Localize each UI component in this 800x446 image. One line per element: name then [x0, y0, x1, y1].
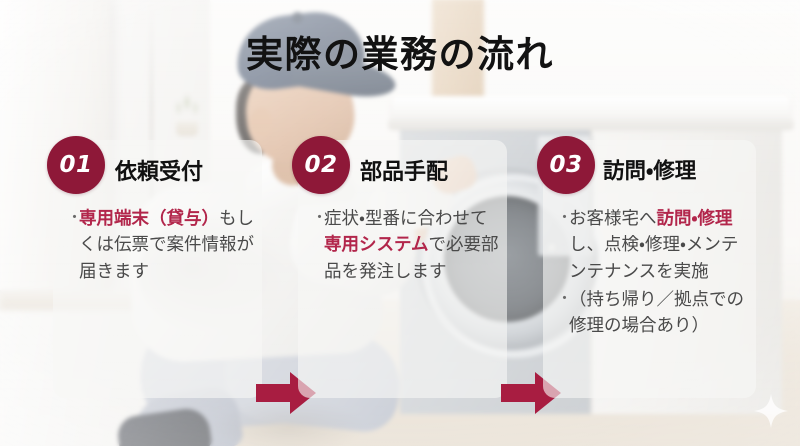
step-body-02: ・症状・型番に合わせて専用システムで必要部品を発注します	[312, 206, 502, 287]
bullet-marker: ・	[557, 206, 569, 229]
plain-text: し、点検・修理・メンテンテナンスを実施	[569, 235, 738, 281]
step-body-01: ・専用端末（貸与）もしくは伝票で案件情報が届きます	[67, 206, 257, 287]
bullet-marker: ・	[312, 206, 324, 229]
process-flow: 01 依頼受付 ・専用端末（貸与）もしくは伝票で案件情報が届きます 02 部品手…	[0, 140, 800, 402]
step-title-01: 依頼受付	[115, 154, 203, 186]
page-title: 実際の業務の流れ	[0, 24, 800, 78]
step-card-02[interactable]: 02 部品手配 ・症状・型番に合わせて専用システムで必要部品を発注します	[298, 140, 507, 398]
highlighted-text: 専用端末（貸与）	[79, 209, 219, 229]
bullet-marker: ・	[557, 287, 569, 310]
step-badge-03: 03	[537, 136, 595, 194]
step-body-03: ・お客様宅へ訪問・修理し、点検・修理・メンテンテナンスを実施・（持ち帰り／拠点で…	[557, 206, 755, 341]
bullet-marker: ・	[67, 206, 79, 229]
highlighted-text: 訪問・修理	[657, 209, 733, 229]
bullet-text: 症状・型番に合わせて専用システムで必要部品を発注します	[324, 206, 502, 285]
step-badge-01: 01	[47, 136, 105, 194]
plain-text: （持ち帰り／拠点での修理の場合あり）	[569, 290, 744, 336]
step-card-03[interactable]: 03 訪問・修理 ・お客様宅へ訪問・修理し、点検・修理・メンテンテナンスを実施・…	[543, 140, 756, 398]
step-badge-02: 02	[292, 136, 350, 194]
step-title-03: 訪問・修理	[603, 154, 696, 185]
plain-text: お客様宅へ	[569, 209, 657, 229]
plain-text: 症状・型番に合わせて	[324, 209, 487, 229]
bullet-item: ・専用端末（貸与）もしくは伝票で案件情報が届きます	[67, 206, 257, 285]
bullet-text: 専用端末（貸与）もしくは伝票で案件情報が届きます	[79, 206, 257, 285]
slide-canvas: 実際の業務の流れ 01 依頼受付 ・専用端末（貸与）もしくは伝票で案件情報が届き…	[0, 0, 800, 446]
step-title-02: 部品手配	[360, 154, 448, 186]
bullet-item: ・お客様宅へ訪問・修理し、点検・修理・メンテンテナンスを実施	[557, 206, 755, 285]
highlighted-text: 専用システム	[324, 235, 428, 255]
step-card-01[interactable]: 01 依頼受付 ・専用端末（貸与）もしくは伝票で案件情報が届きます	[53, 140, 262, 398]
bullet-item: ・症状・型番に合わせて専用システムで必要部品を発注します	[312, 206, 502, 285]
bullet-text: （持ち帰り／拠点での修理の場合あり）	[569, 287, 755, 340]
bullet-text: お客様宅へ訪問・修理し、点検・修理・メンテンテナンスを実施	[569, 206, 755, 285]
bullet-item: ・（持ち帰り／拠点での修理の場合あり）	[557, 287, 755, 340]
